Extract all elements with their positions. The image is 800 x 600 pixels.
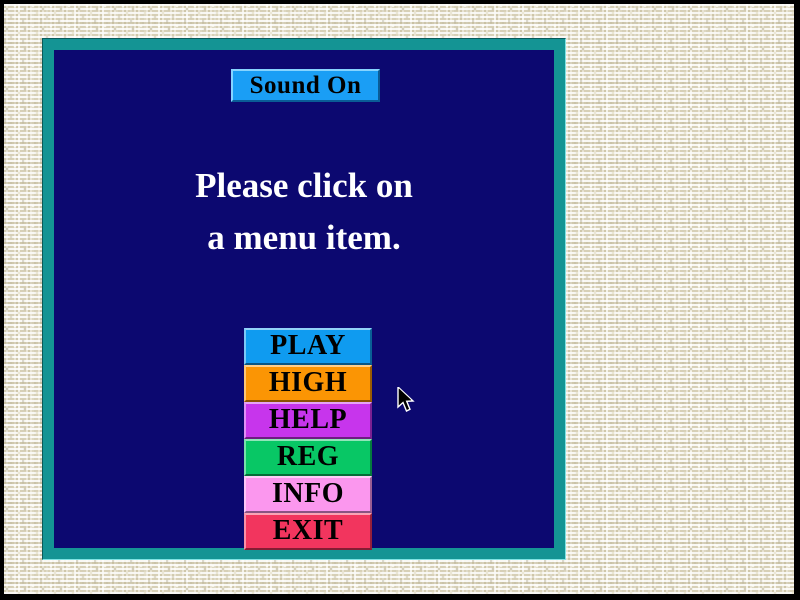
game-panel-border: Sound On Please click on a menu item. PL…	[42, 38, 566, 560]
arrow-pointer-icon	[397, 387, 415, 413]
main-menu: PLAYHIGHHELPREGINFOEXIT	[244, 328, 372, 550]
prompt-message: Please click on a menu item.	[54, 160, 554, 264]
menu-item-play[interactable]: PLAY	[244, 328, 372, 365]
sound-toggle-button[interactable]: Sound On	[231, 69, 380, 102]
menu-item-reg[interactable]: REG	[244, 439, 372, 476]
menu-item-exit[interactable]: EXIT	[244, 513, 372, 550]
application-screen: Sound On Please click on a menu item. PL…	[0, 0, 800, 600]
menu-item-help[interactable]: HELP	[244, 402, 372, 439]
menu-item-info[interactable]: INFO	[244, 476, 372, 513]
prompt-line-1: Please click on	[54, 160, 554, 212]
desktop-background: Sound On Please click on a menu item. PL…	[4, 4, 794, 594]
game-panel: Sound On Please click on a menu item. PL…	[54, 50, 554, 548]
prompt-line-2: a menu item.	[54, 212, 554, 264]
menu-item-high[interactable]: HIGH	[244, 365, 372, 402]
